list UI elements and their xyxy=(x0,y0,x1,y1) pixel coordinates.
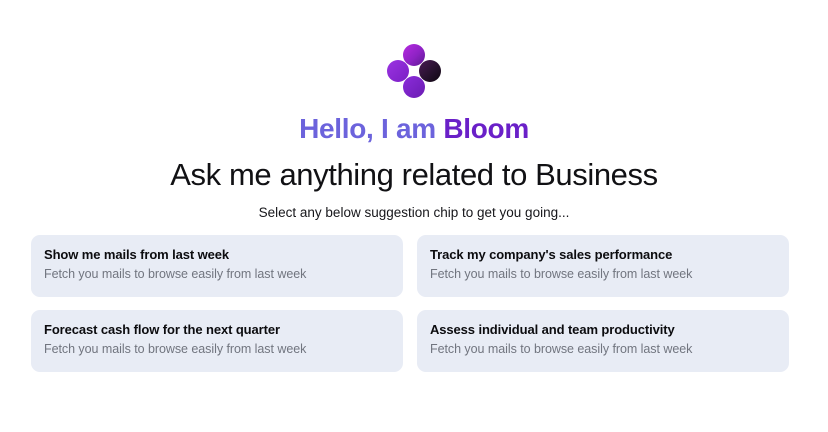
chip-subtitle: Fetch you mails to browse easily from la… xyxy=(44,267,403,283)
page-subtitle: Select any below suggestion chip to get … xyxy=(259,205,570,220)
chip-subtitle: Fetch you mails to browse easily from la… xyxy=(430,267,789,283)
suggestion-chip-productivity[interactable]: Assess individual and team productivity … xyxy=(417,310,789,372)
page-title: Ask me anything related to Business xyxy=(170,157,657,193)
suggestion-chip-sales-performance[interactable]: Track my company's sales performance Fet… xyxy=(417,235,789,297)
greeting-line: Hello, I am Bloom xyxy=(299,114,529,145)
suggestion-chip-cash-flow[interactable]: Forecast cash flow for the next quarter … xyxy=(31,310,403,372)
chip-title: Assess individual and team productivity xyxy=(430,322,789,338)
suggestion-chip-grid: Show me mails from last week Fetch you m… xyxy=(31,235,789,372)
suggestion-chip-show-mails[interactable]: Show me mails from last week Fetch you m… xyxy=(31,235,403,297)
chip-subtitle: Fetch you mails to browse easily from la… xyxy=(44,342,403,358)
bloom-flower-logo-icon xyxy=(385,42,443,100)
chip-title: Track my company's sales performance xyxy=(430,247,789,263)
chip-title: Show me mails from last week xyxy=(44,247,403,263)
assistant-name: Bloom xyxy=(443,113,529,144)
chip-title: Forecast cash flow for the next quarter xyxy=(44,322,403,338)
bloom-welcome-screen: Hello, I am Bloom Ask me anything relate… xyxy=(0,0,828,432)
chip-subtitle: Fetch you mails to browse easily from la… xyxy=(430,342,789,358)
greeting-prefix: Hello, I am xyxy=(299,113,443,144)
